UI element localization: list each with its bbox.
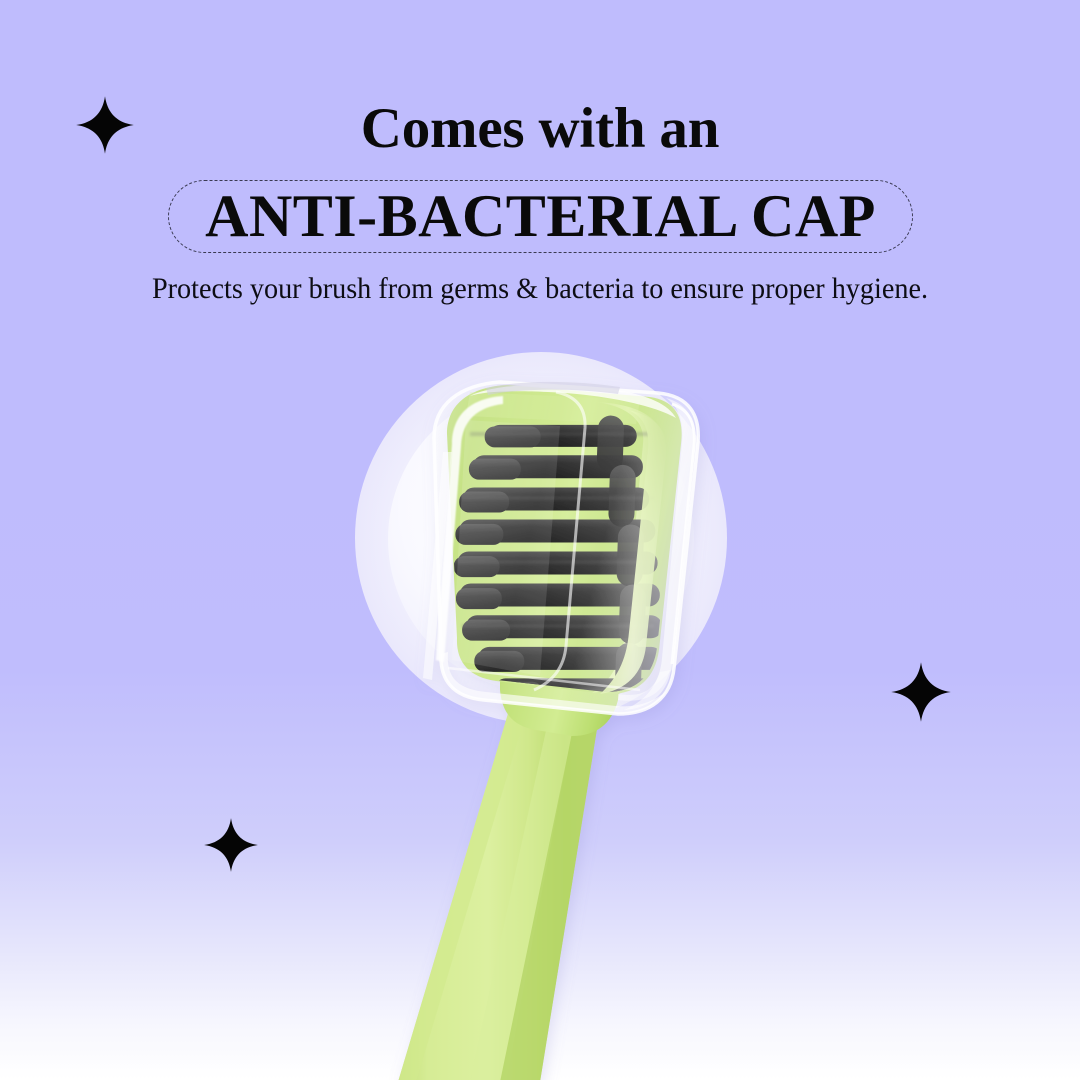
toothbrush-product-image: [0, 0, 1080, 1080]
subline-description: Protects your brush from germs & bacteri…: [32, 272, 1047, 306]
poster-canvas: Comes with an ANTI-BACTERIAL CAP Protect…: [0, 0, 1080, 1080]
sparkle-icon-bottom-left: [203, 817, 259, 873]
anti-bacterial-cap: [423, 382, 698, 714]
cap-title: ANTI-BACTERIAL CAP: [205, 186, 876, 246]
headline: Comes with an: [0, 99, 1080, 159]
anti-bacterial-cap-callout-box: ANTI-BACTERIAL CAP: [168, 180, 913, 253]
sparkle-icon-right: [890, 661, 952, 723]
